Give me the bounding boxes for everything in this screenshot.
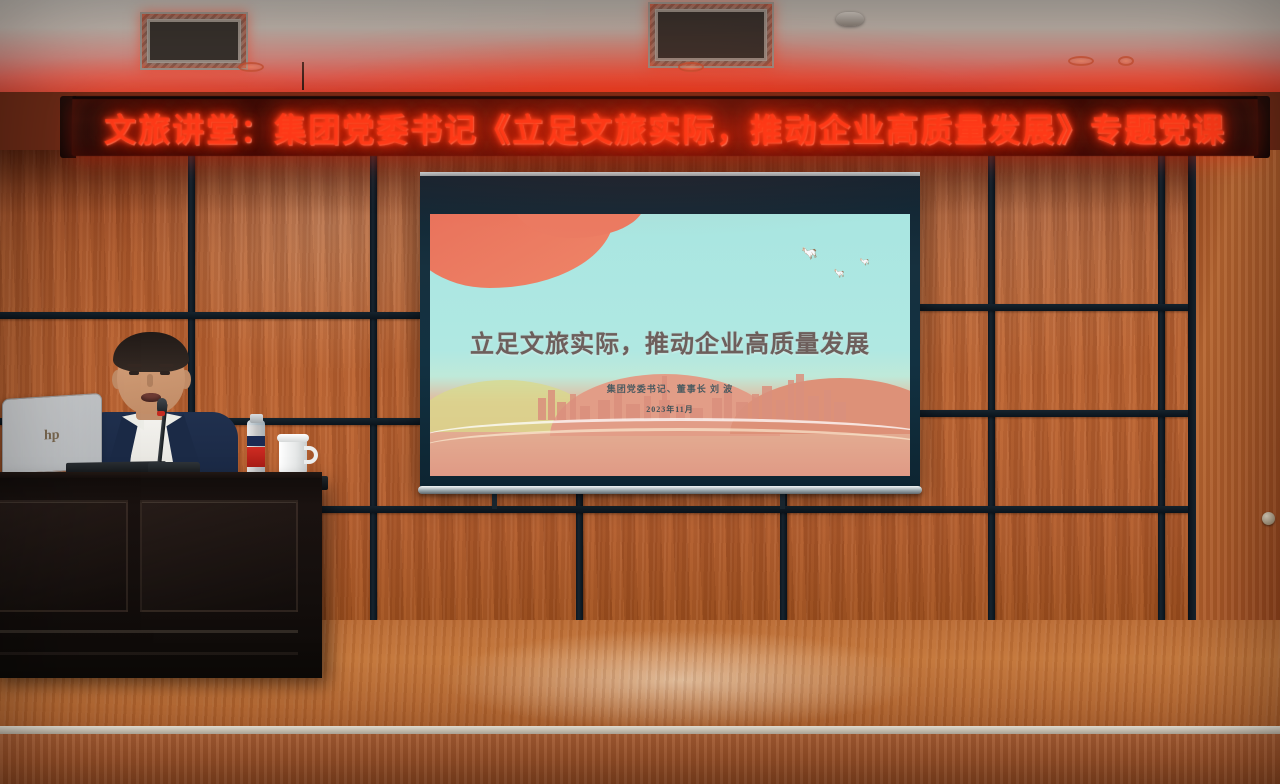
air-vent-left-icon [140, 12, 248, 70]
podium-panel-left [0, 500, 128, 612]
wall-batten-h [0, 312, 420, 319]
speaker-eye-left [129, 371, 139, 375]
water-bottle-label-top [247, 436, 265, 446]
downlight-2-icon [678, 62, 704, 72]
slide-title: 立足文旅实际，推动企业高质量发展 [430, 324, 910, 359]
speaker-eye-right [160, 371, 170, 375]
screen-leg-left [492, 493, 497, 509]
downlight-1-icon [238, 62, 264, 72]
screen-weight-bar [418, 486, 922, 494]
wall-batten-v [988, 150, 995, 620]
stage-edge-trim [0, 726, 1280, 734]
ceiling-wire [302, 62, 304, 90]
water-bottle-label [247, 447, 265, 467]
downlight-4-icon [1118, 56, 1134, 66]
microphone-indicator-icon [157, 411, 165, 416]
speaker-brow-right [159, 364, 174, 367]
presentation-slide: 🦙 🦙 🦙 [430, 214, 910, 476]
speaker-brow-left [127, 364, 142, 367]
conference-hall-photo: 文旅讲堂：集团党委书记《立足文旅实际，推动企业高质量发展》专题党课 🦙 🦙 🦙 [0, 0, 1280, 784]
side-door[interactable] [1196, 150, 1280, 630]
slide-ribbon-2 [430, 428, 910, 468]
air-vent-center-icon [648, 2, 774, 68]
slide-date: 2023年11月 [430, 404, 910, 415]
smoke-detector-icon [836, 12, 864, 26]
water-bottle-cap[interactable] [250, 414, 263, 423]
podium-strip-2 [0, 652, 298, 655]
stage-front-panel [0, 734, 1280, 784]
podium-panel-right [140, 500, 298, 612]
speaker-hair [113, 332, 189, 372]
podium [0, 478, 322, 678]
screen-leg-right [780, 493, 785, 509]
speaker-nose [147, 374, 153, 387]
bird-3-icon: 🦙 [859, 257, 871, 268]
led-banner: 文旅讲堂：集团党委书记《立足文旅实际，推动企业高质量发展》专题党课 [72, 96, 1259, 156]
tea-mug[interactable] [279, 438, 307, 476]
slide-subtitle: 集团党委书记、董事长 刘 波 [430, 382, 910, 395]
door-handle-icon[interactable] [1262, 512, 1275, 525]
projection-screen: 🦙 🦙 🦙 [420, 176, 920, 488]
bird-2-icon: 🦙 [833, 268, 846, 279]
led-banner-text: 文旅讲堂：集团党委书记《立足文旅实际，推动企业高质量发展》专题党课 [72, 99, 1259, 156]
downlight-3-icon [1068, 56, 1094, 66]
hp-logo-icon: hp [44, 427, 62, 444]
podium-strip-1 [0, 630, 298, 633]
tea-mug-lid[interactable] [277, 434, 309, 442]
bird-1-icon: 🦙 [800, 244, 819, 261]
wall-batten-v [370, 150, 377, 620]
wall-batten-v [1158, 150, 1165, 620]
